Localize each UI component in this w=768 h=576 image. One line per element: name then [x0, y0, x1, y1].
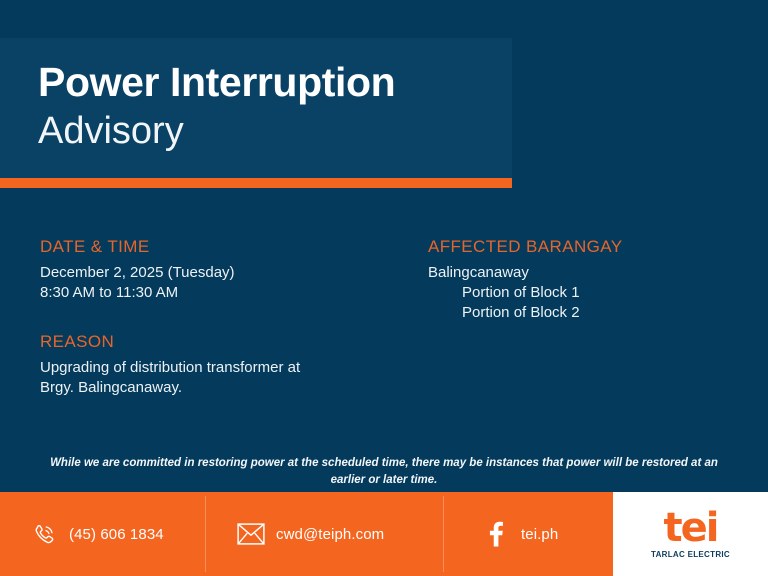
title-panel: Power Interruption Advisory — [0, 38, 512, 178]
date-time-heading: DATE & TIME — [40, 236, 410, 257]
reason-section: REASON Upgrading of distribution transfo… — [40, 331, 410, 398]
advisory-poster: Power Interruption Advisory DATE & TIME … — [0, 0, 768, 576]
reason-body: Upgrading of distribution transformer at… — [40, 358, 410, 398]
affected-barangay-heading: AFFECTED BARANGAY — [428, 236, 748, 257]
left-column: DATE & TIME December 2, 2025 (Tuesday) 8… — [40, 236, 410, 398]
reason-line-1: Upgrading of distribution transformer at — [40, 358, 410, 378]
title-accent-rule — [0, 178, 512, 188]
envelope-icon — [237, 520, 265, 548]
disclaimer-text: While we are committed in restoring powe… — [50, 455, 718, 488]
disclaimer-line-1: While we are committed in restoring powe… — [50, 457, 639, 469]
tei-logo: tei TARLAC ELECTRIC — [613, 492, 768, 576]
time-line: 8:30 AM to 11:30 AM — [40, 283, 410, 303]
contact-email[interactable]: cwd@teiph.com — [237, 492, 384, 576]
contact-phone[interactable]: (45) 606 1834 — [30, 492, 164, 576]
footer-divider-1 — [205, 496, 206, 572]
date-time-body: December 2, 2025 (Tuesday) 8:30 AM to 11… — [40, 263, 410, 303]
reason-line-2: Brgy. Balingcanaway. — [40, 378, 410, 398]
barangay-portion-1: Portion of Block 1 — [428, 283, 748, 303]
footer-divider-2 — [443, 496, 444, 572]
reason-heading: REASON — [40, 331, 410, 352]
email-label: cwd@teiph.com — [276, 526, 384, 543]
right-column: AFFECTED BARANGAY Balingcanaway Portion … — [428, 236, 748, 323]
date-time-section: DATE & TIME December 2, 2025 (Tuesday) 8… — [40, 236, 410, 303]
facebook-label: tei.ph — [521, 526, 558, 543]
barangay-name: Balingcanaway — [428, 263, 748, 283]
phone-label: (45) 606 1834 — [69, 526, 164, 543]
footer-bar: (45) 606 1834 cwd@teiph.com tei.ph — [0, 492, 768, 576]
logo-tagline: TARLAC ELECTRIC — [651, 550, 730, 559]
contact-facebook[interactable]: tei.ph — [482, 492, 558, 576]
section-spacer — [40, 303, 410, 331]
page-subtitle: Advisory — [38, 112, 184, 150]
phone-icon — [30, 520, 58, 548]
affected-barangay-body: Balingcanaway Portion of Block 1 Portion… — [428, 263, 748, 322]
barangay-portion-2: Portion of Block 2 — [428, 303, 748, 323]
logo-mark: tei — [664, 510, 718, 546]
page-title: Power Interruption — [38, 62, 395, 103]
facebook-icon — [482, 520, 510, 548]
affected-barangay-section: AFFECTED BARANGAY Balingcanaway Portion … — [428, 236, 748, 323]
date-line: December 2, 2025 (Tuesday) — [40, 263, 410, 283]
